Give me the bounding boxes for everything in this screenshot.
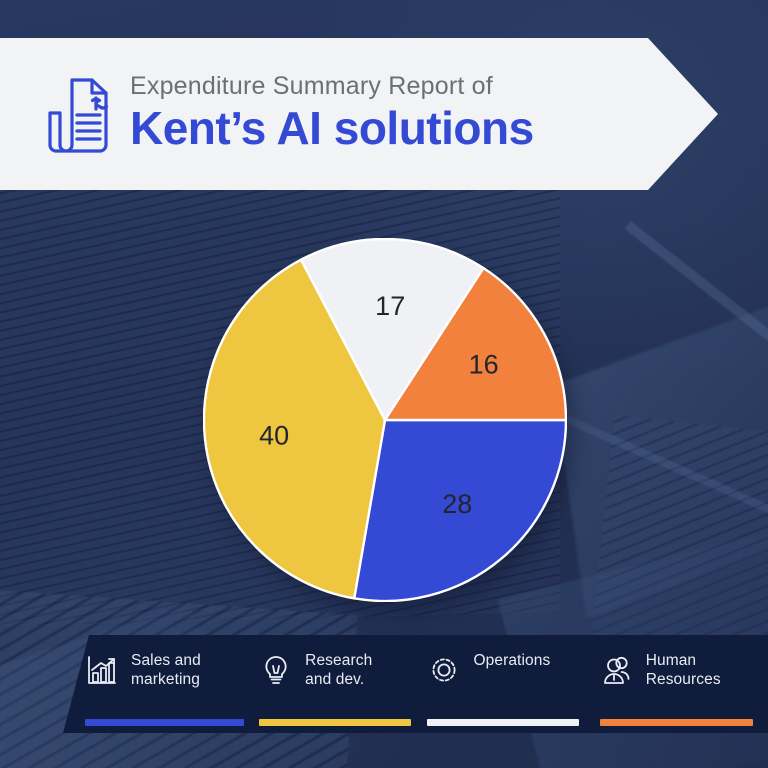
legend-item-research-and-dev[interactable]: Research and dev.: [259, 651, 427, 689]
people-group-icon: [600, 653, 634, 687]
legend-label: Operations: [473, 651, 550, 670]
legend-color-bar: [259, 719, 411, 726]
infographic-canvas: Expenditure Summary Report of Kent’s AI …: [0, 0, 768, 768]
bar-chart-growth-icon: [85, 653, 119, 687]
pie-slice-value-label: 16: [469, 350, 499, 380]
gear-icon: [427, 653, 461, 687]
lightbulb-icon: [259, 653, 293, 687]
legend-panel: Sales and marketing Research and dev.: [63, 635, 768, 733]
pie-slice-value-label: 40: [259, 421, 289, 451]
legend-color-bar: [600, 719, 753, 726]
legend-label: Human Resources: [646, 651, 721, 689]
legend-color-bar: [85, 719, 244, 726]
pie-slice-value-label: 28: [442, 489, 472, 519]
pie-chart-svg: 28401716: [203, 238, 567, 602]
pie-chart: 28401716: [203, 238, 567, 602]
legend-item-operations[interactable]: Operations: [427, 651, 599, 689]
invoice-document-icon: [46, 75, 110, 153]
legend-item-human-resources[interactable]: Human Resources: [600, 651, 768, 689]
header-banner: Expenditure Summary Report of Kent’s AI …: [0, 38, 718, 190]
legend-label: Research and dev.: [305, 651, 372, 689]
report-subtitle: Expenditure Summary Report of: [130, 73, 534, 101]
page-title: Kent’s AI solutions: [130, 103, 534, 155]
legend-label: Sales and marketing: [131, 651, 201, 689]
legend-item-sales-and-marketing[interactable]: Sales and marketing: [85, 651, 259, 689]
pie-slice-value-label: 17: [375, 291, 405, 321]
legend-color-bar: [427, 719, 579, 726]
